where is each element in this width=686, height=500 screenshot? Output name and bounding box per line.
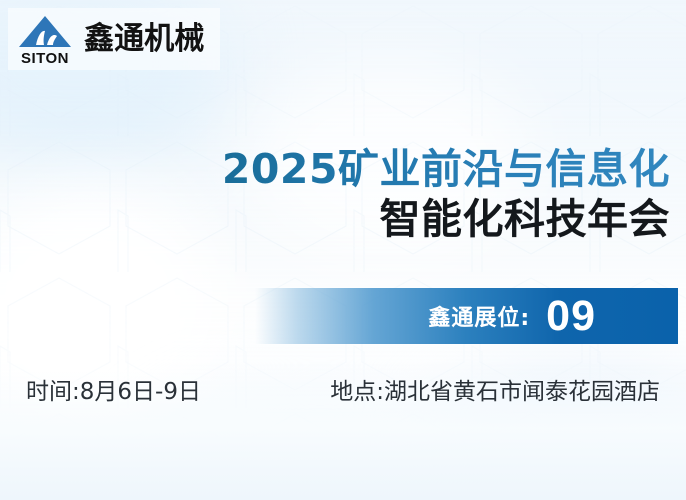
brand-name-chinese: 鑫通机械 [84,24,204,55]
booth-label: 鑫通展位: [428,300,530,332]
headline-block: 2025矿业前沿与信息化 智能化科技年会 [0,145,670,245]
event-poster: SITON 鑫通机械 2025矿业前沿与信息化 智能化科技年会 鑫通展位: 09… [0,0,686,500]
title-line-2: 智能化科技年会 [0,193,670,245]
booth-number: 09 [546,295,596,338]
booth-banner: 鑫通展位: 09 [255,288,678,344]
title-line-1: 2025矿业前沿与信息化 [0,145,670,193]
brand-logo: SITON 鑫通机械 [8,8,220,70]
svg-text:SITON: SITON [21,50,69,67]
event-date: 时间:8月6日-9日 [26,372,201,406]
siton-mountain-logo-icon: SITON [14,11,76,67]
event-venue: 地点:湖北省黄石市闻泰花园酒店 [330,372,660,406]
event-details: 时间:8月6日-9日 地点:湖北省黄石市闻泰花园酒店 [26,372,660,406]
